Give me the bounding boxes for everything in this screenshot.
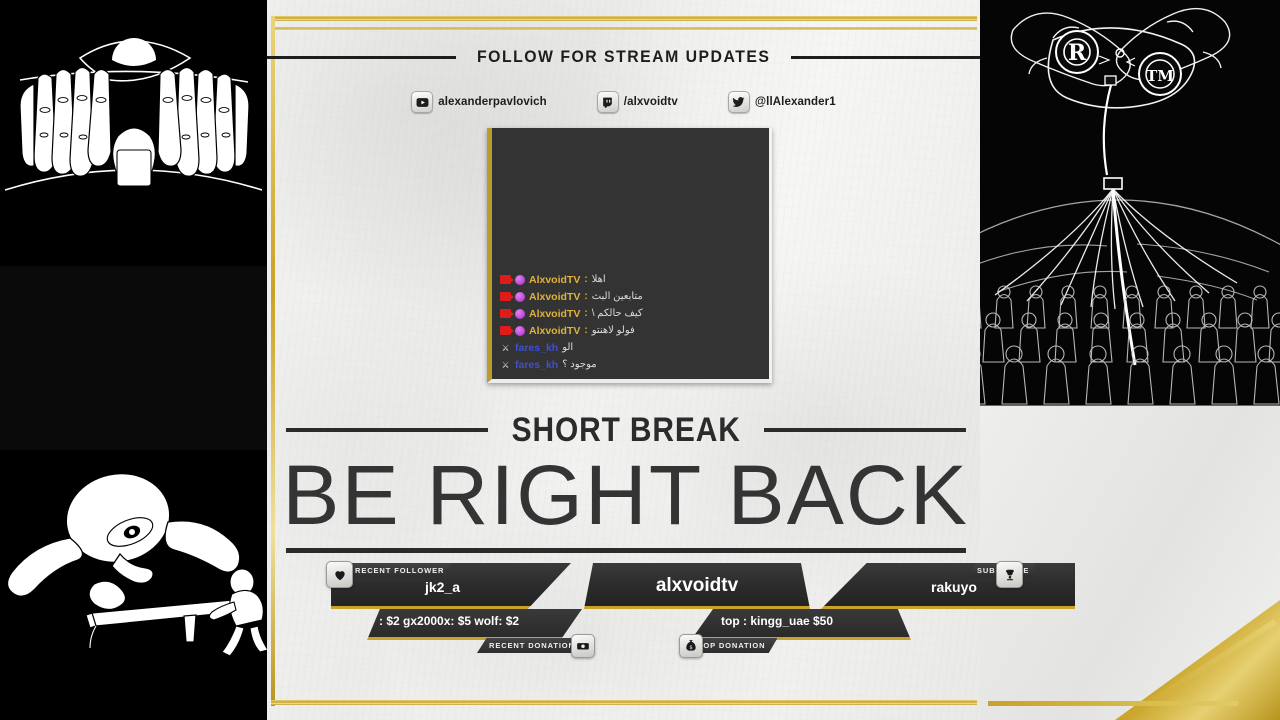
main-title-underline [286, 548, 966, 553]
twitch-handle: /alxvoidtv [624, 96, 678, 108]
recent-follower-label: RECENT FOLLOWER [349, 563, 452, 578]
chat-message: AlxvoidTV : كيف حالكم \ [492, 305, 769, 322]
recent-donation-label: RECENT DONATION [477, 638, 583, 653]
chat-message: AlxvoidTV : اهلا [492, 271, 769, 288]
social-handles-row: alexanderpavlovich /alxvoidtv @llAlexand… [267, 88, 980, 116]
youtube-handle: alexanderpavlovich [438, 96, 547, 108]
gold-frame-bottom [271, 700, 977, 705]
chat-message: AlxvoidTV : متابعين البث [492, 288, 769, 305]
donations-bar-row: : $2 gx2000x: $5 wolf: $2 top : kingg_ua… [281, 609, 967, 654]
artwork-right: R TM [957, 0, 1280, 406]
twitter-handle: @llAlexander1 [755, 96, 836, 108]
chat-username[interactable]: AlxvoidTV [529, 308, 580, 320]
chat-message: ⚔ fares_kh موجود ؟ [492, 356, 769, 373]
chat-colon: : [584, 308, 587, 320]
trophy-icon [996, 561, 1023, 588]
chat-text: كيف حالكم \ [592, 308, 643, 320]
broadcaster-badge-icon [500, 326, 511, 335]
stats-bar-row: RECENT FOLLOWER SUBSCRIBE jk2_a alxvoidt… [281, 563, 967, 606]
chat-text: الو [562, 342, 573, 354]
chat-username[interactable]: fares_kh [515, 342, 558, 354]
broadcaster-badge-icon [500, 309, 511, 318]
artwork-bottom-left [0, 450, 267, 720]
broadcaster-badge-icon [500, 292, 511, 301]
chat-username[interactable]: fares_kh [515, 359, 558, 371]
chat-text: فولو لاهنتو [592, 325, 635, 337]
gold-frame-top-secondary [271, 27, 977, 30]
money-bag-icon: $ [679, 634, 703, 658]
youtube-icon [411, 91, 433, 113]
twitch-icon [597, 91, 619, 113]
short-break-row: SHORT BREAK [286, 408, 966, 452]
money-icon [571, 634, 595, 658]
top-donation-text: top : kingg_uae $50 [721, 614, 833, 628]
svg-text:$: $ [689, 645, 692, 651]
recent-follower-name: jk2_a [425, 579, 460, 595]
chat-username[interactable]: AlxvoidTV [529, 325, 580, 337]
chat-message: ⚔ fares_kh الو [492, 339, 769, 356]
subscriber-badge-icon [515, 275, 525, 285]
chat-colon: : [584, 274, 587, 286]
gold-corner-baseline [988, 701, 1238, 706]
chat-text: متابعين البث [592, 291, 643, 303]
chat-colon: : [584, 325, 587, 337]
moderator-badge-icon: ⚔ [500, 343, 511, 353]
social-youtube[interactable]: alexanderpavlovich [411, 91, 547, 113]
artwork-top-left [0, 0, 267, 266]
subtitle-rule-right [764, 428, 966, 432]
gold-frame-left [271, 16, 275, 706]
channel-name: alxvoidtv [584, 575, 810, 597]
gold-frame-top [271, 16, 977, 21]
follow-header: FOLLOW FOR STREAM UPDATES [267, 40, 980, 74]
main-title-text: BE RIGHT BACK [283, 447, 970, 544]
chat-text: اهلا [592, 274, 606, 286]
chat-text: موجود ؟ [562, 359, 596, 371]
recent-donation-text: : $2 gx2000x: $5 wolf: $2 [379, 614, 519, 628]
stream-overlay-screen: R TM [0, 0, 1280, 720]
svg-text:TM: TM [1146, 67, 1174, 85]
moderator-badge-icon: ⚔ [500, 360, 511, 370]
header-rule-left [267, 56, 456, 59]
follow-header-title: FOLLOW FOR STREAM UPDATES [468, 47, 780, 67]
subscriber-badge-icon [515, 292, 525, 302]
header-rule-right [791, 56, 980, 59]
top-donation-label: TOP DONATION [690, 638, 777, 653]
chat-colon: : [584, 291, 587, 303]
subtitle-rule-left [286, 428, 488, 432]
heart-icon [326, 561, 353, 588]
subscriber-badge-icon [515, 326, 525, 336]
chat-username[interactable]: AlxvoidTV [529, 291, 580, 303]
social-twitter[interactable]: @llAlexander1 [728, 91, 836, 113]
subtitle-text: SHORT BREAK [504, 411, 747, 450]
twitter-icon [728, 91, 750, 113]
broadcaster-badge-icon [500, 275, 511, 284]
social-twitch[interactable]: /alxvoidtv [597, 91, 678, 113]
chat-message: AlxvoidTV : فولو لاهنتو [492, 322, 769, 339]
subscriber-name: rakuyo [931, 579, 977, 595]
subscriber-badge-icon [515, 309, 525, 319]
chat-username[interactable]: AlxvoidTV [529, 274, 580, 286]
chat-box[interactable]: AlxvoidTV : اهلا AlxvoidTV : متابعين الب… [487, 128, 772, 383]
main-title-row: BE RIGHT BACK [286, 450, 966, 540]
